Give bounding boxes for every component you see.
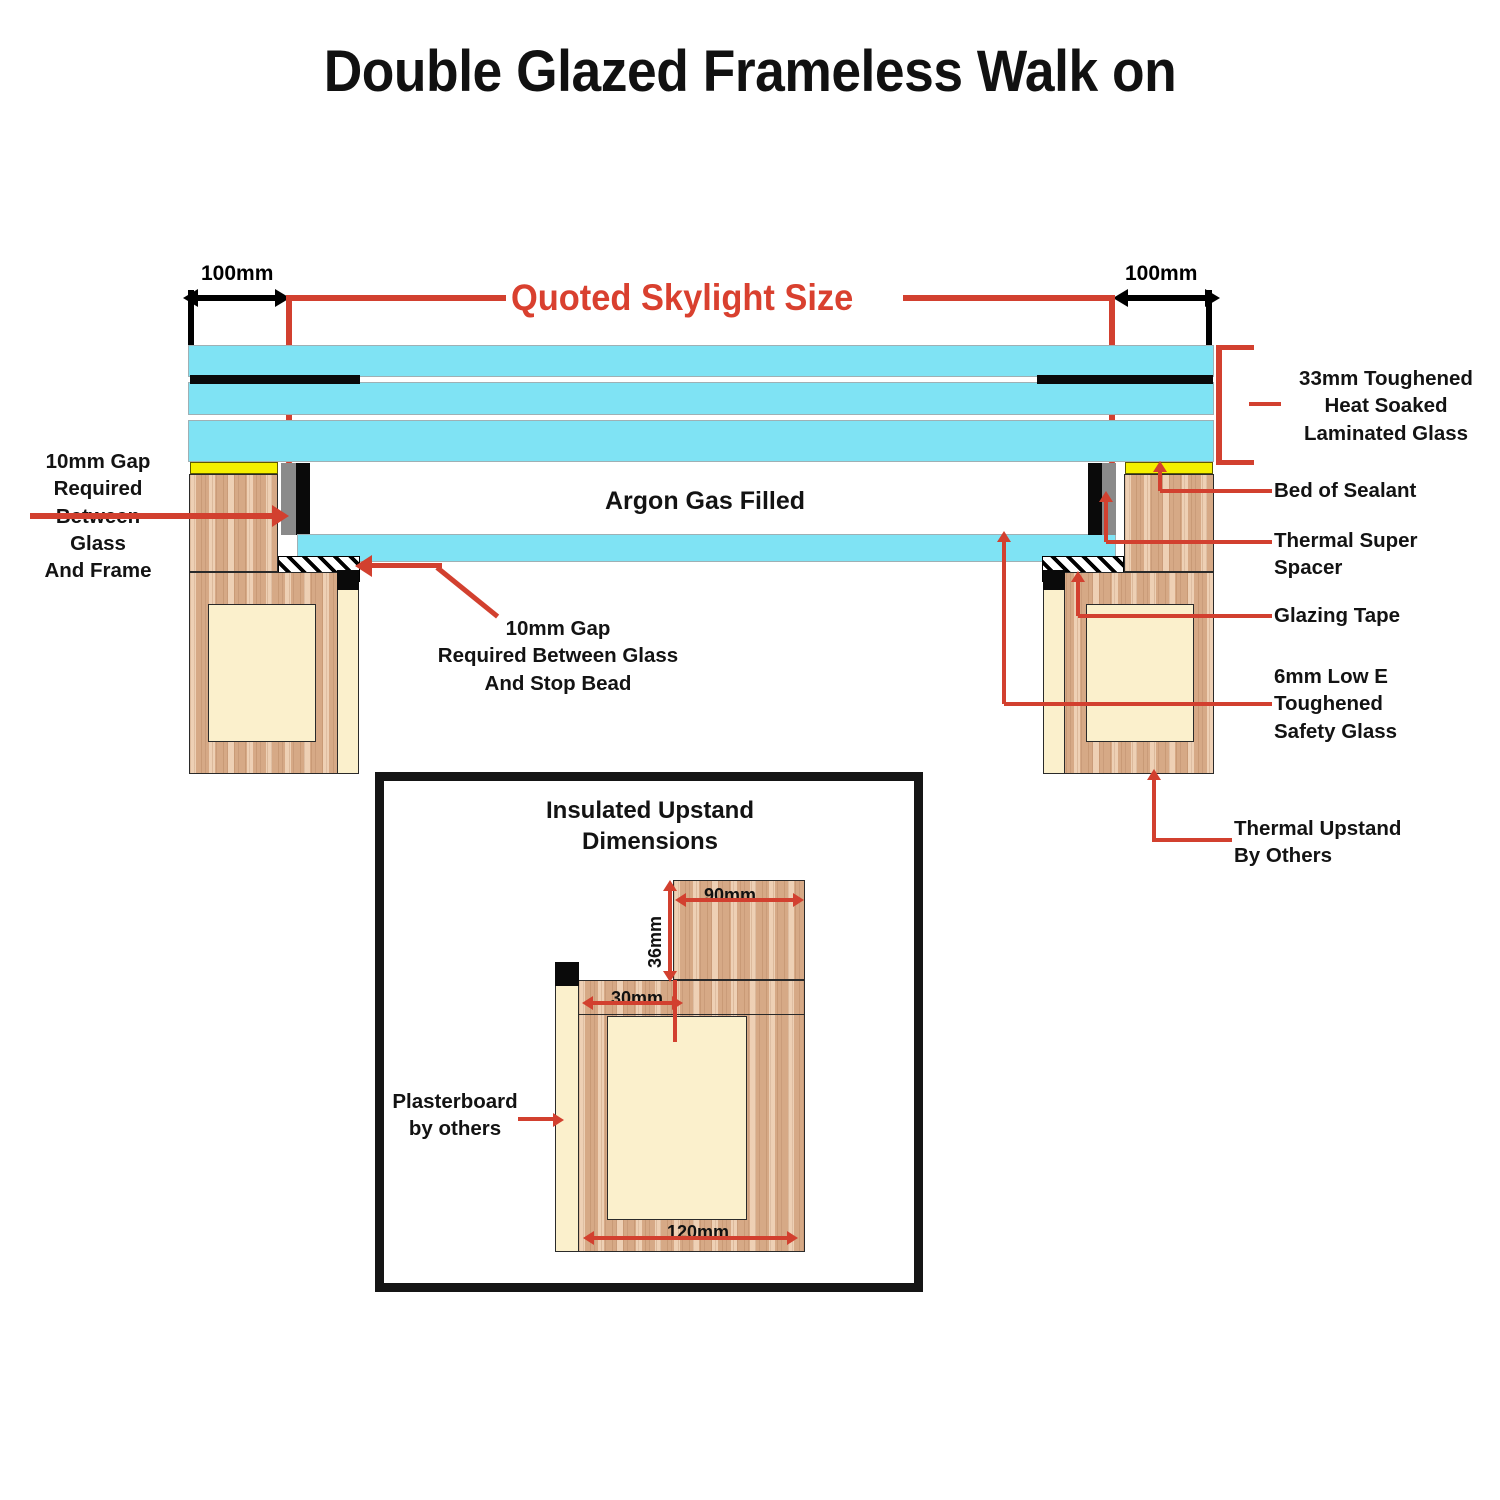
callout-gap-glass-stopbead: 10mm Gap Required Between Glass And Stop… (388, 615, 728, 697)
callout-laminated-glass-line3: Laminated Glass (1274, 420, 1498, 447)
quoted-leader-right-horizontal (903, 295, 1115, 301)
callout-glazing-tape: Glazing Tape (1274, 602, 1500, 629)
glass-pane-low-e (297, 534, 1116, 562)
argon-cavity-label: Argon Gas Filled (605, 487, 805, 516)
right-dimension-arrow-left (1113, 289, 1128, 307)
callout-thermal-super-spacer: Thermal Super Spacer (1274, 527, 1500, 582)
callout-thermal-upstand: Thermal Upstand By Others (1234, 815, 1500, 870)
callout-upstand-line1: Thermal Upstand (1234, 815, 1500, 842)
thermal-upstand-left-upper (189, 474, 278, 572)
plasterboard-right (1043, 588, 1065, 774)
callout-bed-of-sealant: Bed of Sealant (1274, 477, 1500, 504)
callout-low-e-glass: 6mm Low E Toughened Safety Glass (1274, 663, 1500, 745)
callout-gap-glass-frame-line1: 10mm Gap (8, 448, 188, 475)
interlayer-mark-right (1037, 375, 1213, 384)
callout-laminated-glass-line1: 33mm Toughened (1274, 365, 1498, 392)
bed-of-sealant-right (1125, 462, 1213, 474)
inset-dim-120mm-arrow-right (787, 1231, 798, 1245)
glass-pane-top-3 (188, 420, 1214, 462)
callout-lowe-line1: 6mm Low E (1274, 663, 1500, 690)
inset-dim-90mm-label: 90mm (704, 885, 756, 906)
callout-gap-stopbead-line2: Required Between Glass (388, 642, 728, 669)
callout-spacer-line2: Spacer (1274, 554, 1500, 581)
quoted-skylight-size-label: Quoted Skylight Size (511, 277, 853, 319)
low-e-leader-vertical (1002, 540, 1006, 704)
interlayer-mark-left (190, 375, 360, 384)
inset-stop-bead-black (555, 962, 579, 986)
plasterboard-left (337, 588, 359, 774)
inset-dim-36mm-line (668, 890, 672, 974)
thermal-upstand-leader-horizontal (1152, 838, 1232, 842)
glazing-tape-leader-vertical (1076, 580, 1080, 616)
spacer-arrowhead (1099, 491, 1113, 502)
callout-gap-stopbead-line3: And Stop Bead (388, 670, 728, 697)
callout-lowe-line2: Toughened (1274, 690, 1500, 717)
gap-stopbead-leader-diagonal (435, 566, 499, 619)
callout-plasterboard-line1: Plasterboard (375, 1088, 535, 1115)
glass-pane-top-2 (188, 382, 1214, 415)
stop-bead-black-right (1043, 570, 1065, 590)
inset-dim-90mm-line (684, 898, 796, 902)
gap-glass-frame-leader (30, 513, 276, 519)
inset-dim-36mm-arrow-up (663, 880, 677, 891)
right-margin-dimension-label: 100mm (1125, 262, 1197, 286)
inset-dim-30mm-witness (673, 980, 677, 1042)
right-dimension-arrow-right (1205, 289, 1220, 307)
callout-lowe-line3: Safety Glass (1274, 718, 1500, 745)
gap-glass-frame-arrowhead (272, 505, 289, 527)
bed-of-sealant-left (190, 462, 278, 474)
low-e-arrowhead (997, 531, 1011, 542)
inset-title-line1: Insulated Upstand (470, 795, 830, 826)
diagram-canvas: Double Glazed Frameless Walk on 100mm 10… (0, 0, 1500, 1500)
callout-laminated-glass-line2: Heat Soaked (1274, 392, 1498, 419)
insulation-core-right (1086, 604, 1194, 742)
callout-plasterboard-line2: by others (375, 1115, 535, 1142)
laminated-glass-bracket-top (1216, 345, 1254, 350)
inset-dim-120mm-line (592, 1236, 790, 1240)
gap-stopbead-arrowhead (355, 555, 372, 577)
inset-dim-90mm-arrow-right (793, 893, 804, 907)
inset-insulation-core (607, 1016, 747, 1220)
left-dimension-line (195, 295, 285, 301)
laminated-glass-bracket-vertical (1216, 345, 1222, 465)
left-margin-dimension-label: 100mm (201, 262, 273, 286)
callout-plasterboard: Plasterboard by others (375, 1088, 535, 1143)
callout-gap-glass-frame-line2: Required (8, 475, 188, 502)
inset-dim-30mm-line (591, 1001, 679, 1005)
callout-spacer-line1: Thermal Super (1274, 527, 1500, 554)
inset-title: Insulated Upstand Dimensions (470, 795, 830, 857)
insulation-core-left (208, 604, 316, 742)
callout-gap-glass-frame-line5: And Frame (8, 557, 188, 584)
inset-dim-120mm-arrow-left (583, 1231, 594, 1245)
left-dimension-arrow-left (183, 289, 198, 307)
callout-upstand-line2: By Others (1234, 842, 1500, 869)
inset-dim-30mm-arrow-left (582, 996, 593, 1010)
thermal-upstand-leader-vertical (1152, 778, 1156, 840)
gap-stopbead-leader-horizontal (372, 563, 442, 568)
low-e-leader-horizontal (1004, 702, 1272, 706)
inset-dim-30mm-label: 30mm (611, 988, 663, 1009)
spacer-leader-horizontal (1106, 540, 1272, 544)
callout-laminated-glass: 33mm Toughened Heat Soaked Laminated Gla… (1274, 365, 1498, 447)
laminated-glass-bracket-bottom (1216, 460, 1254, 465)
glazing-tape-leader-horizontal (1078, 614, 1272, 618)
inset-dim-90mm-arrow-left (675, 893, 686, 907)
callout-gap-glass-frame-line4: Glass (8, 530, 188, 557)
inset-dim-36mm-label: 36mm (645, 896, 666, 968)
plasterboard-arrowhead (553, 1113, 564, 1127)
spacer-leader-vertical (1104, 500, 1108, 542)
glass-pane-top-1 (188, 345, 1214, 377)
right-dimension-line (1125, 295, 1215, 301)
thermal-upstand-arrowhead (1147, 769, 1161, 780)
quoted-leader-left-horizontal (286, 295, 506, 301)
glazing-tape-arrowhead (1071, 571, 1085, 582)
bed-of-sealant-arrowhead (1153, 461, 1167, 472)
bed-of-sealant-leader-horizontal (1160, 489, 1272, 493)
bed-of-sealant-leader-vertical (1158, 470, 1162, 491)
plasterboard-leader (518, 1117, 558, 1121)
page-title: Double Glazed Frameless Walk on (60, 38, 1440, 105)
callout-gap-stopbead-line1: 10mm Gap (388, 615, 728, 642)
inset-title-line2: Dimensions (470, 826, 830, 857)
spacer-black-left (296, 463, 310, 535)
